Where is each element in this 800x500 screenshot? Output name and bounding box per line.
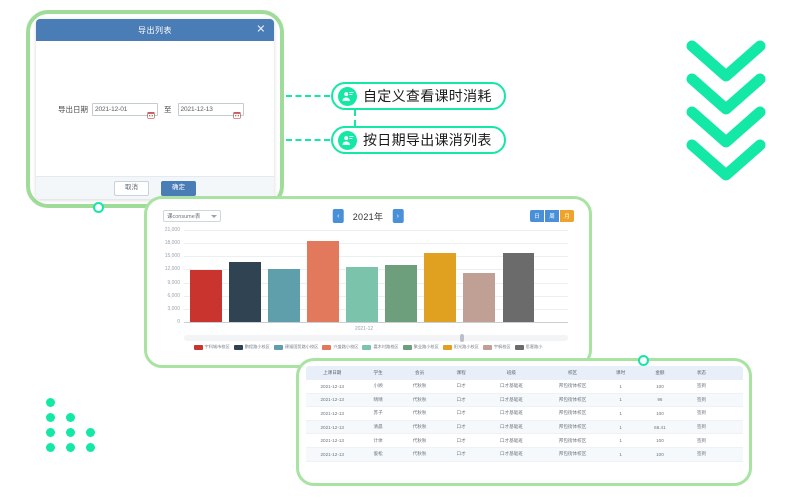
dialog-titlebar: 导出列表 ✕ [36, 19, 274, 41]
calendar-icon[interactable] [147, 106, 155, 114]
table-cell: 66.41 [638, 425, 682, 430]
table-cell: 邦包街体校区 [542, 397, 603, 403]
table-row[interactable]: 2021-12-13小顾代秋秋口才口才基础班邦包街体校区1100签到 [306, 380, 743, 394]
legend-swatch [322, 345, 331, 350]
confirm-button[interactable]: 确定 [161, 181, 196, 196]
chart-legend-item[interactable]: 鹏程路小校区 [234, 344, 270, 350]
table-cell: 邦包街体校区 [542, 451, 603, 457]
cancel-button[interactable]: 取消 [114, 181, 149, 196]
chart-legend-item[interactable]: 建福国贸路小校区 [274, 344, 319, 350]
poster-stage: 导出列表 ✕ 导出日期 2021-12-01 至 2021-12-13 [0, 0, 800, 500]
table-cell: 口才 [441, 383, 480, 389]
table-header-cell: 校区 [542, 370, 603, 376]
legend-swatch [194, 345, 203, 350]
table-cell: 邦包街体校区 [542, 410, 603, 416]
chart-bar[interactable] [307, 241, 339, 322]
table-header-row: 上课日期学生会员课程班级校区课时金额状态 [306, 366, 743, 380]
chart-y-tick-label: 18,000 [154, 240, 180, 246]
dot [46, 413, 55, 422]
dot [66, 443, 75, 452]
table-header-cell: 状态 [682, 370, 721, 376]
table-cell: 口才基础班 [481, 397, 542, 403]
person-check-icon [338, 131, 357, 150]
table-header-cell: 上课日期 [306, 370, 358, 376]
legend-label: 宇科城市校区 [205, 344, 230, 350]
table-cell: 苏子 [358, 410, 397, 416]
records-table-panel: 上课日期学生会员课程班级校区课时金额状态 2021-12-13小顾代秋秋口才口才… [306, 366, 743, 476]
table-cell: 100 [638, 411, 682, 416]
table-row[interactable]: 2021-12-13计体代秋秋口才口才基础班邦包街体校区1100签到 [306, 434, 743, 448]
chart-y-tick-label: 0 [154, 319, 180, 325]
table-cell: 签到 [682, 424, 721, 430]
table-row[interactable]: 2021-12-13晴晴代秋秋口才口才基础班邦包街体校区196签到 [306, 394, 743, 408]
date-range-row: 导出日期 2021-12-01 至 2021-12-13 [58, 103, 244, 116]
legend-swatch [483, 345, 492, 350]
table-cell: 口才基础班 [481, 410, 542, 416]
chart-legend-item[interactable]: 宇科城市校区 [194, 344, 230, 350]
legend-label: 鹏程路小校区 [245, 344, 270, 350]
table-cell: 邦包街体校区 [542, 424, 603, 430]
range-toggle-day[interactable]: 日 [530, 210, 545, 222]
callout-pill-label: 按日期导出课消列表 [363, 130, 492, 150]
table-cell: 96 [638, 397, 682, 402]
connector-knob-dialog [93, 202, 104, 213]
close-icon[interactable]: ✕ [256, 25, 266, 36]
dot [66, 413, 75, 422]
legend-label: 建福国贸路小校区 [285, 344, 319, 350]
chart-x-axis [184, 322, 568, 323]
chart-bar[interactable] [424, 253, 456, 322]
legend-label: 聚业路小校区 [414, 344, 439, 350]
table-row[interactable]: 2021-12-13苏子代秋秋口才口才基础班邦包街体校区1100签到 [306, 407, 743, 421]
callout-connector-line [286, 139, 330, 141]
legend-swatch [443, 345, 452, 350]
table-cell: 口才基础班 [481, 438, 542, 444]
legend-label: 阳光路小校区 [454, 344, 479, 350]
scrollbar-thumb[interactable] [460, 334, 464, 342]
year-label: 2021年 [353, 210, 384, 223]
table-cell: 100 [638, 452, 682, 457]
chart-legend-item[interactable]: 嘉木村路校区 [362, 344, 398, 350]
calendar-icon[interactable] [233, 106, 241, 114]
table-cell: 清晨 [358, 424, 397, 430]
chart-y-tick-label: 9,000 [154, 280, 180, 286]
callout-pill-export-by-date: 按日期导出课消列表 [331, 126, 506, 154]
chart-bar[interactable] [268, 269, 300, 322]
chart-legend: 宇科城市校区鹏程路小校区建福国贸路小校区兴盛路小校区嘉木村路校区聚业路小校区阳光… [162, 342, 574, 352]
chevron-left-icon[interactable]: ‹ [333, 209, 344, 223]
chart-y-tick-label: 3,000 [154, 306, 180, 312]
date-from-input[interactable]: 2021-12-01 [92, 103, 158, 116]
date-to-value: 2021-12-13 [181, 106, 213, 113]
dot [46, 398, 55, 407]
table-cell: 口才 [441, 424, 480, 430]
chart-bar[interactable] [463, 273, 495, 323]
legend-swatch [515, 345, 524, 350]
table-cell: 1 [603, 411, 638, 416]
chart-bar[interactable] [190, 270, 222, 322]
chart-legend-item[interactable]: 聚业路小校区 [403, 344, 439, 350]
table-header-cell: 班级 [481, 370, 542, 376]
table-cell: 代秋秋 [398, 383, 442, 389]
legend-swatch [274, 345, 283, 350]
connector-knob-table [638, 355, 649, 366]
dot [86, 428, 95, 437]
table-body: 2021-12-13小顾代秋秋口才口才基础班邦包街体校区1100签到2021-1… [306, 380, 743, 462]
decorative-chevrons [686, 40, 772, 182]
table-cell: 1 [603, 397, 638, 402]
table-row[interactable]: 2021-12-13俊松代秋秋口才口才基础班邦包街体校区1100签到 [306, 448, 743, 462]
table-header-cell: 学生 [358, 370, 397, 376]
chart-filter-value: 课consume表 [167, 212, 200, 220]
table-cell: 邦包街体校区 [542, 383, 603, 389]
person-check-icon [338, 87, 357, 106]
table-cell: 代秋秋 [398, 438, 442, 444]
legend-label: 思客路小 [526, 344, 543, 350]
dot [46, 428, 55, 437]
table-cell: 代秋秋 [398, 451, 442, 457]
table-row[interactable]: 2021-12-13清晨代秋秋口才口才基础班邦包街体校区166.41签到 [306, 421, 743, 435]
table-cell: 代秋秋 [398, 424, 442, 430]
chart-toolbar: 课consume表 ‹ 2021年 › 日 周 月 [154, 205, 582, 227]
chevron-down-icon [686, 139, 766, 183]
table-cell: 俊松 [358, 451, 397, 457]
date-to-input[interactable]: 2021-12-13 [178, 103, 244, 116]
table-cell: 口才 [441, 451, 480, 457]
callout-pill-custom-view: 自定义查看课时消耗 [331, 82, 506, 110]
chevron-right-icon[interactable]: › [392, 209, 403, 223]
table-cell: 100 [638, 438, 682, 443]
chart-y-tick-label: 6,000 [154, 293, 180, 299]
table-cell: 签到 [682, 451, 721, 457]
callout-connector-line [354, 110, 356, 126]
table-cell: 2021-12-13 [306, 425, 358, 430]
table-header-cell: 课时 [603, 370, 638, 376]
range-toggle-month[interactable]: 月 [560, 210, 574, 222]
date-range-separator: 至 [164, 104, 172, 115]
table-cell: 邦包街体校区 [542, 438, 603, 444]
chevron-down-icon [211, 215, 217, 218]
legend-label: 兴盛路小校区 [333, 344, 358, 350]
chart-x-tick-label: 2021-12 [355, 326, 373, 332]
chart-bars [190, 230, 534, 322]
legend-swatch [362, 345, 371, 350]
date-from-value: 2021-12-01 [95, 106, 127, 113]
chart-bar[interactable] [385, 265, 417, 322]
range-toggle-week[interactable]: 周 [545, 210, 560, 222]
table-cell: 2021-12-13 [306, 397, 358, 402]
chart-legend-item[interactable]: 宇枫校区 [483, 344, 511, 350]
dialog-body: 导出日期 2021-12-01 至 2021-12-13 [36, 41, 274, 176]
callout-connector-line [286, 95, 330, 97]
table-cell: 代秋秋 [398, 410, 442, 416]
dialog-title: 导出列表 [138, 25, 172, 36]
year-navigator: ‹ 2021年 › [333, 209, 404, 223]
table-cell: 小顾 [358, 383, 397, 389]
chart-y-tick-label: 15,000 [154, 253, 180, 259]
table-cell: 1 [603, 438, 638, 443]
chart-filter-select[interactable]: 课consume表 [163, 210, 221, 222]
export-dialog: 导出列表 ✕ 导出日期 2021-12-01 至 2021-12-13 [36, 19, 274, 199]
chart-legend-item[interactable]: 思客路小 [515, 344, 543, 350]
chart-panel: 课consume表 ‹ 2021年 › 日 周 月 03,0006,0009,0… [154, 205, 582, 357]
table-cell: 口才 [441, 397, 480, 403]
table-cell: 2021-12-13 [306, 411, 358, 416]
date-range-label: 导出日期 [58, 104, 88, 115]
chart-bar[interactable] [346, 267, 378, 322]
table-header-cell: 会员 [398, 370, 442, 376]
table-header-cell: 课程 [441, 370, 480, 376]
dot [46, 443, 55, 452]
table-cell: 口才基础班 [481, 424, 542, 430]
chart-y-tick-label: 21,000 [154, 227, 180, 233]
chart-plot-area: 03,0006,0009,00012,00015,00018,00021,000… [154, 227, 574, 323]
range-toggle-group: 日 周 月 [530, 210, 574, 222]
chart-bar[interactable] [229, 262, 261, 322]
chart-scrollbar[interactable] [184, 335, 568, 341]
table-cell: 2021-12-13 [306, 384, 358, 389]
table-cell: 口才基础班 [481, 383, 542, 389]
table-cell: 2021-12-13 [306, 438, 358, 443]
table-cell: 1 [603, 425, 638, 430]
table-cell: 签到 [682, 383, 721, 389]
table-cell: 代秋秋 [398, 397, 442, 403]
table-cell: 签到 [682, 397, 721, 403]
table-cell: 口才基础班 [481, 451, 542, 457]
table-cell: 1 [603, 384, 638, 389]
chart-y-tick-label: 12,000 [154, 266, 180, 272]
chart-legend-item[interactable]: 阳光路小校区 [443, 344, 479, 350]
callout-pill-label: 自定义查看课时消耗 [363, 86, 492, 106]
table-cell: 1 [603, 452, 638, 457]
table-cell: 晴晴 [358, 397, 397, 403]
legend-label: 嘉木村路校区 [373, 344, 398, 350]
dot [66, 428, 75, 437]
legend-label: 宇枫校区 [494, 344, 511, 350]
table-cell: 计体 [358, 438, 397, 444]
legend-swatch [403, 345, 412, 350]
dot [86, 443, 95, 452]
table-cell: 签到 [682, 410, 721, 416]
table-cell: 2021-12-13 [306, 452, 358, 457]
table-header-cell: 金额 [638, 370, 682, 376]
table-cell: 口才 [441, 410, 480, 416]
chart-bar[interactable] [503, 253, 535, 322]
table-cell: 口才 [441, 438, 480, 444]
table-cell: 100 [638, 384, 682, 389]
chart-legend-item[interactable]: 兴盛路小校区 [322, 344, 358, 350]
table-cell: 签到 [682, 438, 721, 444]
decorative-dot-grid [46, 398, 118, 454]
legend-swatch [234, 345, 243, 350]
